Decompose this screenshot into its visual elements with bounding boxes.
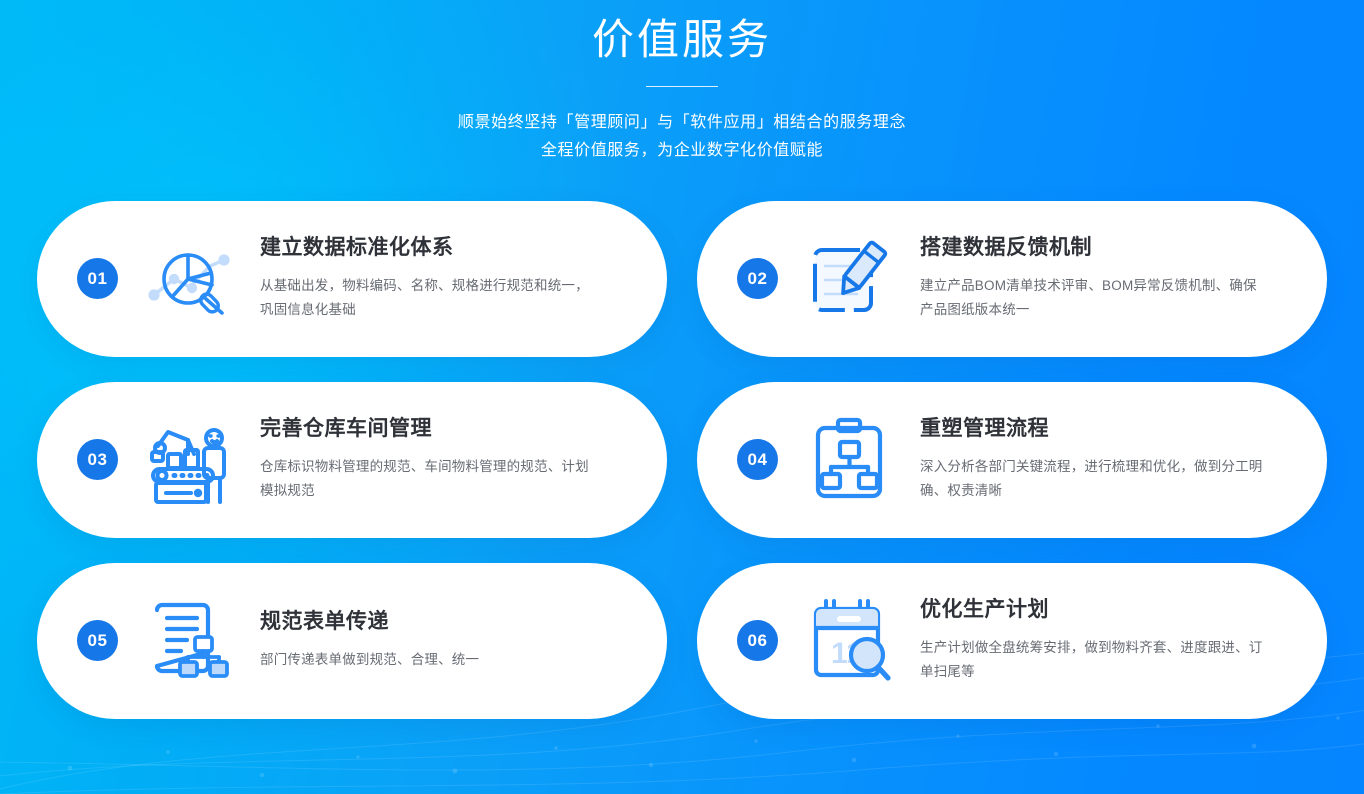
page-subtitle: 顺景始终坚持「管理顾问」与「软件应用」相结合的服务理念 全程价值服务，为企业数字… (302, 109, 1062, 165)
service-card-01[interactable]: 01 (37, 201, 667, 357)
card-number-badge: 02 (737, 258, 778, 299)
card-title: 搭建数据反馈机制 (920, 235, 1295, 260)
card-text-block: 重塑管理流程 深入分析各部门关键流程，进行梳理和优化，做到分工明确、权责清晰 (920, 416, 1301, 503)
card-description: 从基础出发，物料编码、名称、规格进行规范和统一，巩固信息化基础 (260, 274, 595, 322)
document-flow-icon (142, 593, 238, 689)
card-description: 部门传递表单做到规范、合理、统一 (260, 648, 595, 672)
subtitle-line-1: 顺景始终坚持「管理顾问」与「软件应用」相结合的服务理念 (302, 109, 1062, 137)
card-title: 规范表单传递 (260, 609, 635, 634)
service-card-grid: 01 (37, 201, 1327, 719)
service-card-06[interactable]: 06 11 优化生产计划 生产计划做全盘统筹安排，做到物料齐套、进度 (697, 563, 1327, 719)
note-pencil-icon (802, 231, 898, 327)
service-card-02[interactable]: 02 搭建数据反馈机制 (697, 201, 1327, 357)
page-header: 价值服务 顺景始终坚持「管理顾问」与「软件应用」相结合的服务理念 全程价值服务，… (0, 0, 1364, 165)
card-description: 深入分析各部门关键流程，进行梳理和优化，做到分工明确、权责清晰 (920, 455, 1265, 503)
page-title: 价值服务 (0, 14, 1364, 67)
subtitle-line-2: 全程价值服务，为企业数字化价值赋能 (302, 137, 1062, 165)
card-text-block: 建立数据标准化体系 从基础出发，物料编码、名称、规格进行规范和统一，巩固信息化基… (260, 235, 641, 322)
service-card-05[interactable]: 05 (37, 563, 667, 719)
card-description: 生产计划做全盘统筹安排，做到物料齐套、进度跟进、订单扫尾等 (920, 636, 1265, 684)
card-title: 重塑管理流程 (920, 416, 1295, 441)
card-text-block: 优化生产计划 生产计划做全盘统筹安排，做到物料齐套、进度跟进、订单扫尾等 (920, 597, 1301, 684)
card-description: 仓库标识物料管理的规范、车间物料管理的规范、计划模拟规范 (260, 455, 595, 503)
service-card-04[interactable]: 04 重塑管理流程 深入分析各部门关键 (697, 382, 1327, 538)
card-number-badge: 03 (77, 439, 118, 480)
card-number-badge: 05 (77, 620, 118, 661)
card-number-badge: 04 (737, 439, 778, 480)
calendar-magnifier-icon: 11 (802, 593, 898, 689)
service-card-03[interactable]: 03 (37, 382, 667, 538)
card-text-block: 搭建数据反馈机制 建立产品BOM清单技术评审、BOM异常反馈机制、确保产品图纸版… (920, 235, 1301, 322)
factory-production-line-icon (142, 412, 238, 508)
card-description: 建立产品BOM清单技术评审、BOM异常反馈机制、确保产品图纸版本统一 (920, 274, 1265, 322)
clipboard-org-chart-icon (802, 412, 898, 508)
card-text-block: 规范表单传递 部门传递表单做到规范、合理、统一 (260, 609, 641, 672)
card-title: 建立数据标准化体系 (260, 235, 635, 260)
card-number-badge: 06 (737, 620, 778, 661)
card-text-block: 完善仓库车间管理 仓库标识物料管理的规范、车间物料管理的规范、计划模拟规范 (260, 416, 641, 503)
value-service-page: 价值服务 顺景始终坚持「管理顾问」与「软件应用」相结合的服务理念 全程价值服务，… (0, 0, 1364, 794)
card-title: 优化生产计划 (920, 597, 1295, 622)
pie-chart-magnifier-icon (142, 231, 238, 327)
title-divider (646, 86, 718, 87)
card-title: 完善仓库车间管理 (260, 416, 635, 441)
card-number-badge: 01 (77, 258, 118, 299)
